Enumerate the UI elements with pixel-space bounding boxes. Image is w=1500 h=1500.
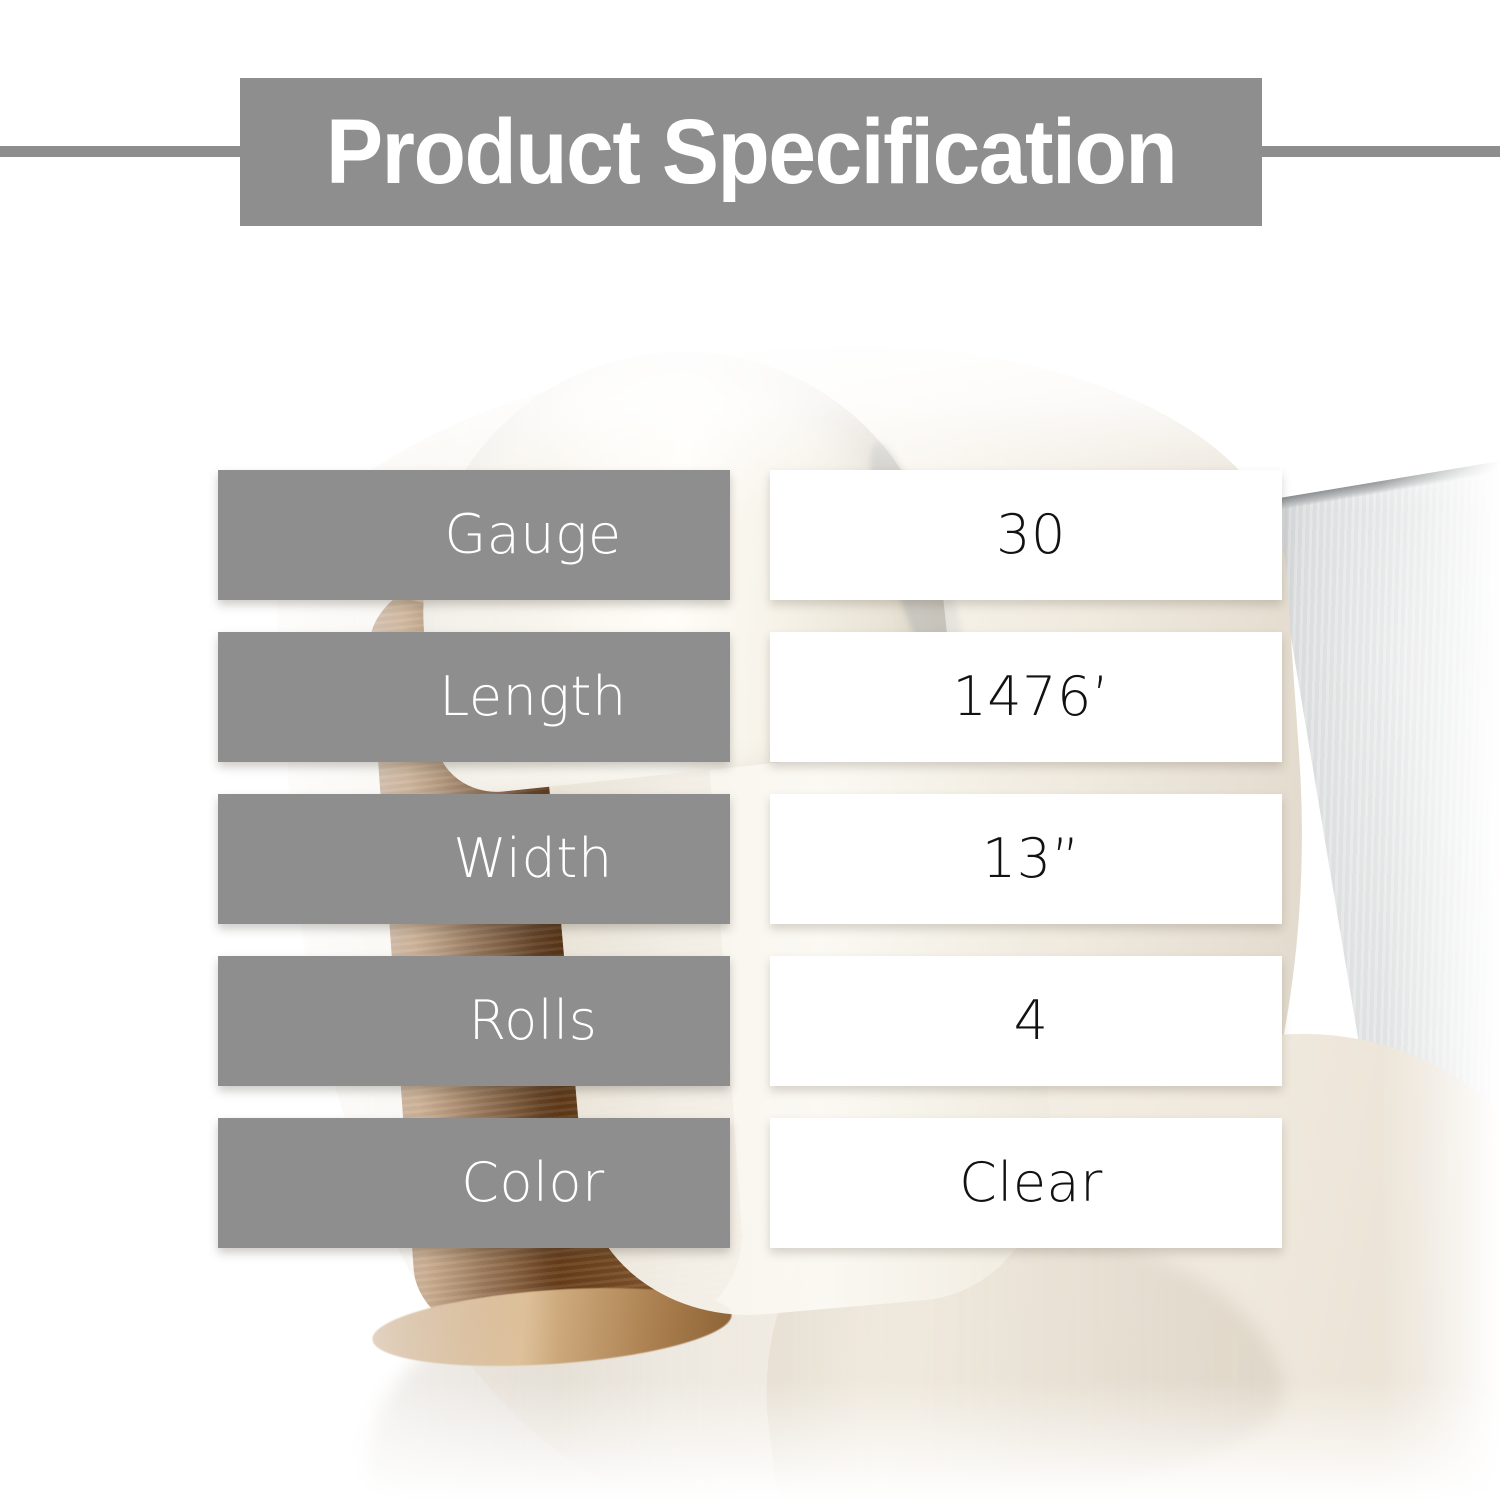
spec-row-gap bbox=[730, 1118, 770, 1248]
spec-value-cell-color: Clear bbox=[770, 1118, 1282, 1248]
spec-value-cell-gauge: 30 bbox=[770, 470, 1282, 600]
spec-value-width: 13” bbox=[972, 832, 1080, 886]
spec-value-cell-length: 1476’ bbox=[770, 632, 1282, 762]
spec-label-color: Color bbox=[343, 1156, 605, 1210]
specification-table: Gauge 30 Length 1476’ Width 13” bbox=[218, 470, 1282, 1248]
spec-label-cell-width: Width bbox=[218, 794, 730, 924]
table-row: Length 1476’ bbox=[218, 632, 1282, 762]
spec-row-gap bbox=[730, 632, 770, 762]
spec-label-length: Length bbox=[321, 670, 626, 724]
photo-fade-right bbox=[1380, 330, 1500, 1500]
spec-label-cell-rolls: Rolls bbox=[218, 956, 730, 1086]
page-title: Product Specification bbox=[326, 106, 1176, 198]
spec-label-rolls: Rolls bbox=[351, 994, 598, 1048]
spec-value-cell-rolls: 4 bbox=[770, 956, 1282, 1086]
spec-value-rolls: 4 bbox=[1004, 994, 1049, 1048]
table-row: Rolls 4 bbox=[218, 956, 1282, 1086]
header-banner: Product Specification bbox=[240, 78, 1262, 226]
table-row: Color Clear bbox=[218, 1118, 1282, 1248]
table-row: Width 13” bbox=[218, 794, 1282, 924]
photo-fade-bottom bbox=[0, 1380, 1500, 1500]
spec-label-cell-color: Color bbox=[218, 1118, 730, 1248]
spec-value-color: Clear bbox=[949, 1156, 1103, 1210]
spec-row-gap bbox=[730, 470, 770, 600]
spec-label-width: Width bbox=[335, 832, 612, 886]
spec-value-length: 1476’ bbox=[942, 670, 1109, 724]
spec-value-gauge: 30 bbox=[986, 508, 1066, 562]
spec-label-gauge: Gauge bbox=[326, 508, 621, 562]
table-row: Gauge 30 bbox=[218, 470, 1282, 600]
spec-row-gap bbox=[730, 956, 770, 1086]
spec-row-gap bbox=[730, 794, 770, 924]
spec-label-cell-length: Length bbox=[218, 632, 730, 762]
spec-value-cell-width: 13” bbox=[770, 794, 1282, 924]
product-specification-card: Product Specification Gauge 30 Length 14… bbox=[0, 0, 1500, 1500]
spec-label-cell-gauge: Gauge bbox=[218, 470, 730, 600]
